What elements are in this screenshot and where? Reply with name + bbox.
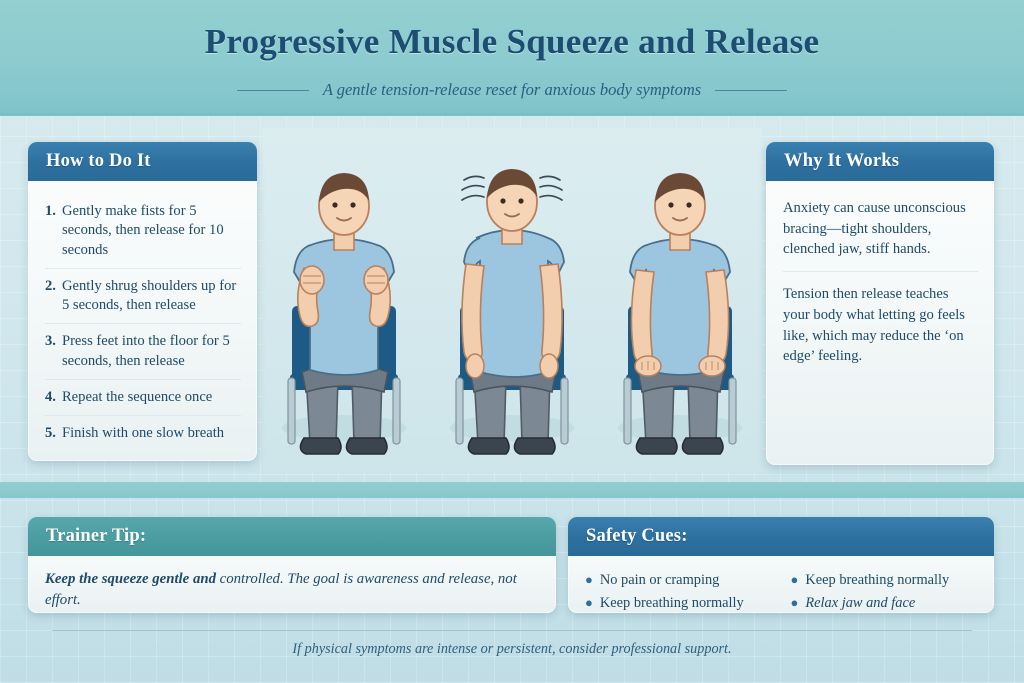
- trainer-tip-heading: Trainer Tip:: [28, 517, 556, 556]
- fist-left: [300, 266, 324, 294]
- fist-right: [364, 266, 388, 294]
- trainer-tip-card: Trainer Tip: Keep the squeeze gentle and…: [28, 517, 556, 613]
- step-item: 1. Gently make fists for 5 seconds, then…: [45, 194, 241, 269]
- bullet-icon: ●: [585, 594, 593, 612]
- safety-cues-card: Safety Cues: ● No pain or cramping ● Kee…: [568, 517, 994, 613]
- safety-cue-item: ● Keep breathing normally: [791, 569, 979, 592]
- step-text: Gently shrug shoulders up for 5 seconds,…: [62, 277, 241, 316]
- subtitle-rule-right: [715, 90, 787, 91]
- step-item: 3. Press feet into the floor for 5 secon…: [45, 324, 241, 380]
- safety-cue-item: ● No pain or cramping: [585, 569, 773, 592]
- page-title: Progressive Muscle Squeeze and Release: [0, 22, 1024, 62]
- how-to-do-it-body: 1. Gently make fists for 5 seconds, then…: [28, 181, 257, 461]
- trainer-tip-emphasis: Keep the squeeze gentle and: [45, 571, 216, 587]
- section-divider-band: [0, 482, 1024, 498]
- safety-cue-text: Relax jaw and face: [805, 594, 915, 613]
- hand-on-thigh-left: [635, 356, 661, 376]
- safety-cue-columns: ● No pain or cramping ● Keep breathing n…: [585, 569, 978, 613]
- safety-cue-column-left: ● No pain or cramping ● Keep breathing n…: [585, 569, 773, 613]
- bullet-icon: ●: [791, 594, 799, 612]
- safety-cues-heading: Safety Cues:: [568, 517, 994, 556]
- page-subtitle: A gentle tension-release reset for anxio…: [323, 80, 701, 100]
- bullet-icon: ●: [791, 571, 799, 589]
- footer-note: If physical symptoms are intense or pers…: [0, 641, 1024, 658]
- step-item: 4. Repeat the sequence once: [45, 380, 241, 416]
- bullet-icon: ●: [585, 571, 593, 589]
- infographic-poster: Progressive Muscle Squeeze and Release A…: [0, 0, 1024, 683]
- step-item: 2. Gently shrug shoulders up for 5 secon…: [45, 269, 241, 325]
- safety-cue-text: No pain or cramping: [600, 571, 720, 590]
- trainer-tip-body: Keep the squeeze gentle and controlled. …: [28, 556, 556, 613]
- footer-divider: [52, 630, 972, 631]
- step-number: 5.: [45, 424, 56, 443]
- safety-cue-text: Keep breathing normally: [600, 594, 744, 613]
- step-text: Press feet into the floor for 5 seconds,…: [62, 332, 241, 371]
- hand-on-thigh-right: [699, 356, 725, 376]
- step-text: Finish with one slow breath: [62, 424, 224, 443]
- safety-cue-item: ● Keep breathing normally: [585, 592, 773, 613]
- why-it-works-heading: Why It Works: [766, 142, 994, 181]
- step-text: Gently make fists for 5 seconds, then re…: [62, 202, 241, 260]
- why-paragraph: Anxiety can cause unconscious bracing—ti…: [783, 194, 978, 271]
- why-paragraph: Tension then release teaches your body w…: [783, 271, 978, 378]
- illustration-three-figures: [262, 128, 762, 473]
- safety-cue-item: ● Relax jaw and face: [791, 592, 979, 613]
- trainer-tip-text: Keep the squeeze gentle and controlled. …: [45, 569, 540, 611]
- step-number: 1.: [45, 202, 56, 260]
- subtitle-rule-left: [237, 90, 309, 91]
- subtitle-row: A gentle tension-release reset for anxio…: [0, 80, 1024, 100]
- safety-cues-body: ● No pain or cramping ● Keep breathing n…: [568, 556, 994, 613]
- step-number: 4.: [45, 388, 56, 407]
- step-number: 2.: [45, 277, 56, 316]
- step-number: 3.: [45, 332, 56, 371]
- steps-list: 1. Gently make fists for 5 seconds, then…: [45, 194, 241, 451]
- safety-cue-column-right: ● Keep breathing normally ● Relax jaw an…: [791, 569, 979, 613]
- how-to-do-it-card: How to Do It 1. Gently make fists for 5 …: [28, 142, 257, 461]
- why-it-works-card: Why It Works Anxiety can cause unconscio…: [766, 142, 994, 465]
- step-text: Repeat the sequence once: [62, 388, 212, 407]
- how-to-do-it-heading: How to Do It: [28, 142, 257, 181]
- safety-cue-text: Keep breathing normally: [805, 571, 949, 590]
- why-it-works-body: Anxiety can cause unconscious bracing—ti…: [766, 181, 994, 390]
- step-item: 5. Finish with one slow breath: [45, 416, 241, 451]
